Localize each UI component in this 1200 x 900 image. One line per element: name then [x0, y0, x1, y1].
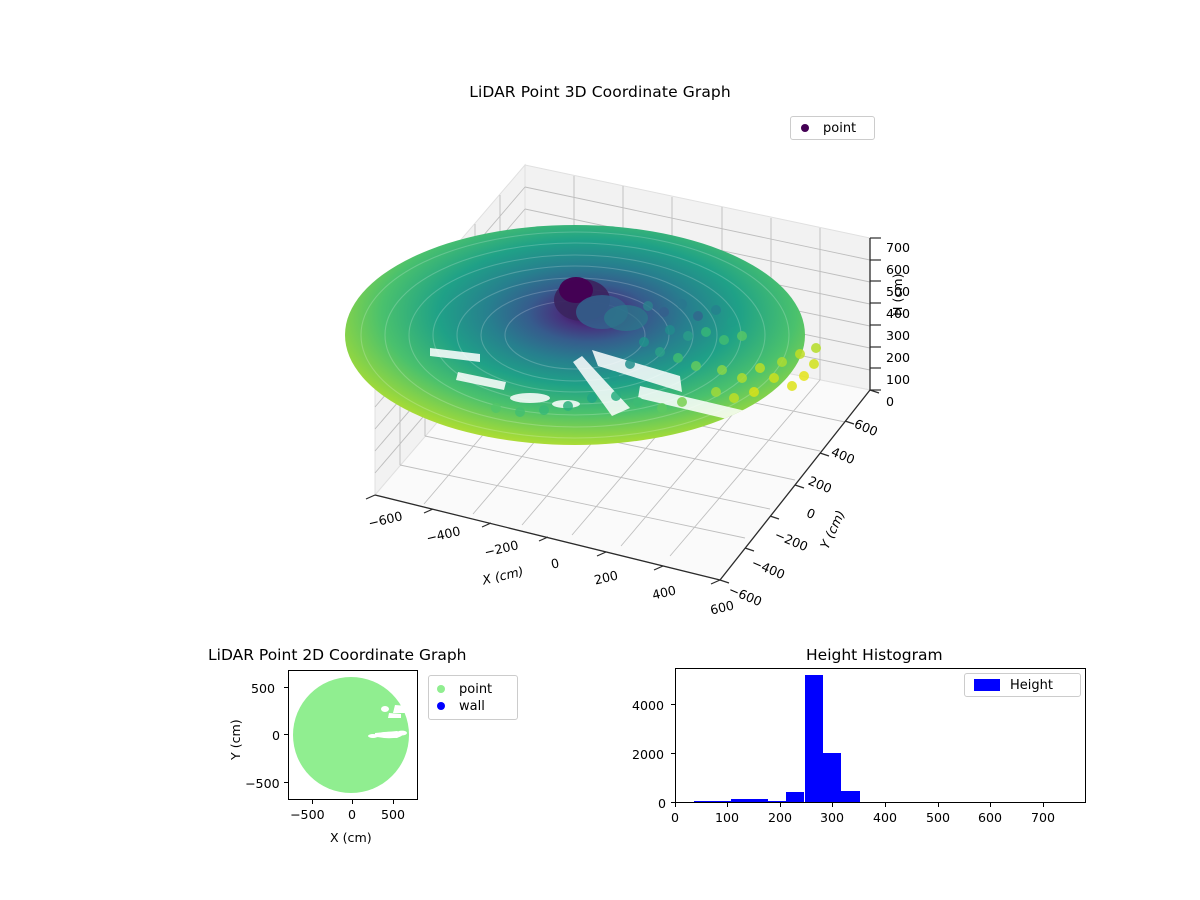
matplotlib-figure: LiDAR Point 3D Coordinate Graph point [0, 0, 1200, 900]
height-swatch-icon [974, 679, 1000, 691]
point-marker-icon [437, 685, 445, 693]
histogram-xtick-500: 500 [926, 810, 950, 825]
histogram-xtick-300: 300 [820, 810, 844, 825]
plot2d-point-cloud [289, 671, 417, 799]
histogram-xtick-600: 600 [978, 810, 1002, 825]
histogram-xtick-mark-100 [727, 803, 728, 807]
histogram-xtick-mark-200 [780, 803, 781, 807]
legend-entry-wall: wall [437, 699, 485, 714]
legend-label-wall: wall [459, 699, 485, 714]
histogram-ytick-mark-4000 [671, 704, 675, 705]
histogram-bar [823, 753, 841, 802]
plot3d-ztick-4: 300 [886, 328, 910, 343]
plot2d-xtick-mark-n500 [312, 800, 313, 804]
histogram-ytick-2000: 2000 [632, 747, 664, 762]
histogram-xtick-700: 700 [1031, 810, 1055, 825]
histogram-axes[interactable]: Height [675, 668, 1086, 803]
legend-entry-point: point [437, 682, 492, 697]
histogram-bar [694, 801, 712, 803]
plot2d-ytick-mark-0 [284, 734, 288, 735]
legend-label-height: Height [1010, 678, 1053, 693]
plot3d-zaxis-label: H (cm) [890, 274, 905, 317]
legend-label-point: point [459, 682, 492, 697]
plot3d-canvas [330, 140, 930, 620]
plot2d-xtick-n500: −500 [290, 807, 325, 822]
histogram-title: Height Histogram [806, 646, 943, 664]
legend-entry-height: Height [974, 678, 1053, 693]
histogram-bar [731, 799, 749, 802]
histogram-bar [768, 801, 786, 802]
point-marker-icon [801, 124, 809, 132]
histogram-xtick-400: 400 [873, 810, 897, 825]
plot3d-ztick-7: 0 [886, 394, 894, 409]
legend-entry-point: point [801, 121, 856, 136]
histogram-xtick-mark-0 [675, 803, 676, 807]
histogram-bar [713, 801, 731, 803]
histogram-xtick-mark-600 [990, 803, 991, 807]
plot2d-xtick-0: 0 [348, 807, 356, 822]
plot2d-xtick-mark-0 [352, 800, 353, 804]
plot3d-ztick-5: 200 [886, 350, 910, 365]
wall-marker-icon [437, 702, 445, 710]
plot2d-title: LiDAR Point 2D Coordinate Graph [208, 646, 466, 664]
histogram-bar [749, 799, 767, 802]
plot2d-xaxis-label: X (cm) [330, 830, 372, 845]
plot2d-yaxis-label: Y (cm) [228, 719, 243, 760]
plot2d-legend: point wall [428, 675, 518, 720]
histogram-ytick-mark-2000 [671, 753, 675, 754]
plot3d-title: LiDAR Point 3D Coordinate Graph [0, 83, 1200, 101]
histogram-xtick-100: 100 [715, 810, 739, 825]
plot3d-ztick-6: 100 [886, 372, 910, 387]
histogram-ytick-0: 0 [658, 796, 666, 811]
plot3d-legend: point [790, 116, 875, 140]
plot2d-ytick-mark-n500 [284, 782, 288, 783]
histogram-xtick-mark-300 [832, 803, 833, 807]
legend-label-point: point [823, 121, 856, 136]
plot3d-axes[interactable]: 700 600 500 400 300 200 100 0 [330, 140, 930, 620]
plot2d-ytick-n500: −500 [245, 776, 280, 791]
histogram-ytick-4000: 4000 [632, 698, 664, 713]
histogram-legend: Height [964, 673, 1081, 697]
histogram-xtick-mark-500 [938, 803, 939, 807]
plot2d-ytick-0: 0 [272, 728, 280, 743]
histogram-xtick-mark-700 [1043, 803, 1044, 807]
plot2d-ytick-mark-500 [284, 687, 288, 688]
plot2d-axes[interactable] [288, 670, 418, 800]
histogram-bar [786, 792, 804, 802]
histogram-xtick-mark-400 [885, 803, 886, 807]
histogram-xtick-200: 200 [768, 810, 792, 825]
histogram-xtick-0: 0 [671, 810, 679, 825]
plot2d-xtick-mark-500 [393, 800, 394, 804]
histogram-bar [805, 675, 823, 802]
histogram-bar [841, 791, 859, 802]
plot3d-ztick-0: 700 [886, 240, 910, 255]
plot2d-xtick-500: 500 [381, 807, 405, 822]
plot2d-ytick-500: 500 [251, 681, 275, 696]
